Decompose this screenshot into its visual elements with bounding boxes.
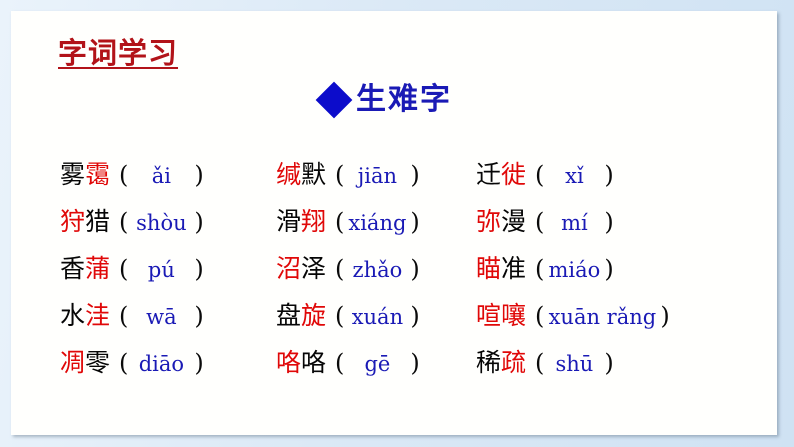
pinyin-group: (ǎi): [119, 163, 204, 187]
paren-open: (: [535, 351, 544, 375]
vocabulary-word: 缄默: [276, 162, 326, 187]
vocabulary-word: 滑翔: [276, 209, 326, 234]
paren-close: ): [194, 257, 203, 281]
hanzi-char: 雾: [60, 162, 85, 187]
pinyin-group: (xuān rǎng): [535, 304, 670, 328]
paren-close: ): [194, 304, 203, 328]
hanzi-char: 翔: [301, 209, 326, 234]
hanzi-char: 缄: [276, 162, 301, 187]
hanzi-char: 稀: [476, 350, 501, 375]
hanzi-char: 嚷: [501, 303, 526, 328]
hanzi-char: 水: [60, 303, 85, 328]
paren-open: (: [335, 304, 344, 328]
paren-open: (: [119, 163, 128, 187]
hanzi-char: 凋: [60, 350, 85, 375]
vocabulary-entry: 缄默(jiān): [276, 151, 468, 198]
vocabulary-column-2: 缄默(jiān)滑翔(xiáng)沼泽(zhǎo)盘旋(xuán)咯咯(gē): [243, 151, 468, 386]
pinyin-text: miáo: [544, 260, 604, 281]
vocabulary-entry: 水洼(wā): [60, 292, 243, 339]
pinyin-text: ǎi: [128, 166, 194, 187]
pinyin-text: zhǎo: [344, 260, 410, 281]
hanzi-char: 瞄: [476, 256, 501, 281]
vocabulary-entry: 弥漫(mí): [476, 198, 768, 245]
paren-close: ): [410, 304, 419, 328]
paren-close: ): [194, 210, 203, 234]
pinyin-text: xiáng: [344, 213, 410, 234]
pinyin-group: (xiáng): [335, 210, 420, 234]
paren-open: (: [119, 351, 128, 375]
vocabulary-entry: 稀疏(shū): [476, 339, 768, 386]
pinyin-group: (wā): [119, 304, 204, 328]
paren-open: (: [535, 257, 544, 281]
pinyin-group: (gē): [335, 351, 420, 375]
paren-close: ): [194, 163, 203, 187]
vocabulary-word: 稀疏: [476, 350, 526, 375]
pinyin-group: (jiān): [335, 163, 420, 187]
hanzi-char: 洼: [85, 303, 110, 328]
slide-panel: 字词学习 生难字 雾霭(ǎi)狩猎(shòu)香蒲(pú)水洼(wā)凋零(di…: [11, 11, 777, 435]
hanzi-char: 霭: [85, 162, 110, 187]
hanzi-char: 默: [301, 162, 326, 187]
pinyin-group: (pú): [119, 257, 204, 281]
vocabulary-column-1: 雾霭(ǎi)狩猎(shòu)香蒲(pú)水洼(wā)凋零(diāo): [11, 151, 243, 386]
vocabulary-word: 喧嚷: [476, 303, 526, 328]
hanzi-char: 旋: [301, 303, 326, 328]
vocabulary-entry: 咯咯(gē): [276, 339, 468, 386]
paren-open: (: [535, 210, 544, 234]
paren-close: ): [410, 257, 419, 281]
hanzi-char: 迁: [476, 162, 501, 187]
pinyin-text: shū: [544, 354, 604, 375]
hanzi-char: 沼: [276, 256, 301, 281]
paren-close: ): [410, 351, 419, 375]
vocabulary-word: 香蒲: [60, 256, 110, 281]
paren-close: ): [194, 351, 203, 375]
pinyin-text: gē: [344, 354, 410, 375]
hanzi-char: 零: [85, 350, 110, 375]
vocabulary-entry: 沼泽(zhǎo): [276, 245, 468, 292]
pinyin-group: (shū): [535, 351, 614, 375]
hanzi-char: 泽: [301, 256, 326, 281]
pinyin-text: wā: [128, 307, 194, 328]
vocabulary-entry: 雾霭(ǎi): [60, 151, 243, 198]
paren-open: (: [335, 257, 344, 281]
pinyin-group: (diāo): [119, 351, 204, 375]
sub-heading: 生难字: [321, 85, 452, 115]
sub-heading-label: 生难字: [356, 85, 452, 115]
vocabulary-word: 弥漫: [476, 209, 526, 234]
vocabulary-word: 盘旋: [276, 303, 326, 328]
paren-close: ): [604, 351, 613, 375]
hanzi-char: 盘: [276, 303, 301, 328]
paren-open: (: [119, 304, 128, 328]
slide-background: 字词学习 生难字 雾霭(ǎi)狩猎(shòu)香蒲(pú)水洼(wā)凋零(di…: [0, 0, 794, 447]
pinyin-group: (xuán): [335, 304, 420, 328]
vocabulary-word: 水洼: [60, 303, 110, 328]
paren-open: (: [535, 304, 544, 328]
paren-open: (: [119, 257, 128, 281]
hanzi-char: 狩: [60, 209, 85, 234]
pinyin-group: (zhǎo): [335, 257, 420, 281]
pinyin-text: xuān rǎng: [544, 307, 660, 328]
hanzi-char: 滑: [276, 209, 301, 234]
hanzi-char: 咯: [301, 350, 326, 375]
hanzi-char: 弥: [476, 209, 501, 234]
vocabulary-grid: 雾霭(ǎi)狩猎(shòu)香蒲(pú)水洼(wā)凋零(diāo) 缄默(ji…: [11, 151, 777, 386]
pinyin-text: pú: [128, 260, 194, 281]
hanzi-char: 疏: [501, 350, 526, 375]
hanzi-char: 漫: [501, 209, 526, 234]
vocabulary-entry: 盘旋(xuán): [276, 292, 468, 339]
pinyin-text: diāo: [128, 354, 194, 375]
vocabulary-word: 咯咯: [276, 350, 326, 375]
pinyin-text: xǐ: [544, 166, 604, 187]
vocabulary-word: 迁徙: [476, 162, 526, 187]
paren-close: ): [410, 210, 419, 234]
vocabulary-entry: 瞄准(miáo): [476, 245, 768, 292]
pinyin-group: (shòu): [119, 210, 204, 234]
vocabulary-word: 凋零: [60, 350, 110, 375]
vocabulary-entry: 香蒲(pú): [60, 245, 243, 292]
vocabulary-entry: 喧嚷(xuān rǎng): [476, 292, 768, 339]
vocabulary-word: 沼泽: [276, 256, 326, 281]
paren-open: (: [335, 351, 344, 375]
paren-open: (: [119, 210, 128, 234]
vocabulary-word: 雾霭: [60, 162, 110, 187]
vocabulary-entry: 狩猎(shòu): [60, 198, 243, 245]
hanzi-char: 喧: [476, 303, 501, 328]
pinyin-group: (miáo): [535, 257, 614, 281]
hanzi-char: 猎: [85, 209, 110, 234]
pinyin-text: mí: [544, 213, 604, 234]
paren-close: ): [604, 210, 613, 234]
hanzi-char: 蒲: [85, 256, 110, 281]
paren-close: ): [604, 163, 613, 187]
paren-open: (: [535, 163, 544, 187]
hanzi-char: 徙: [501, 162, 526, 187]
hanzi-char: 香: [60, 256, 85, 281]
pinyin-group: (mí): [535, 210, 614, 234]
paren-close: ): [604, 257, 613, 281]
vocabulary-word: 瞄准: [476, 256, 526, 281]
blue-diamond-bullet-icon: [316, 82, 353, 119]
paren-open: (: [335, 163, 344, 187]
hanzi-char: 准: [501, 256, 526, 281]
pinyin-group: (xǐ): [535, 163, 614, 187]
vocabulary-entry: 滑翔(xiáng): [276, 198, 468, 245]
hanzi-char: 咯: [276, 350, 301, 375]
vocabulary-column-3: 迁徙(xǐ)弥漫(mí)瞄准(miáo)喧嚷(xuān rǎng)稀疏(shū): [468, 151, 768, 386]
pinyin-text: xuán: [344, 307, 410, 328]
vocabulary-entry: 迁徙(xǐ): [476, 151, 768, 198]
vocabulary-entry: 凋零(diāo): [60, 339, 243, 386]
paren-open: (: [335, 210, 344, 234]
paren-close: ): [410, 163, 419, 187]
pinyin-text: shòu: [128, 213, 194, 234]
page-title: 字词学习: [58, 37, 178, 69]
paren-close: ): [660, 304, 669, 328]
pinyin-text: jiān: [344, 166, 410, 187]
vocabulary-word: 狩猎: [60, 209, 110, 234]
